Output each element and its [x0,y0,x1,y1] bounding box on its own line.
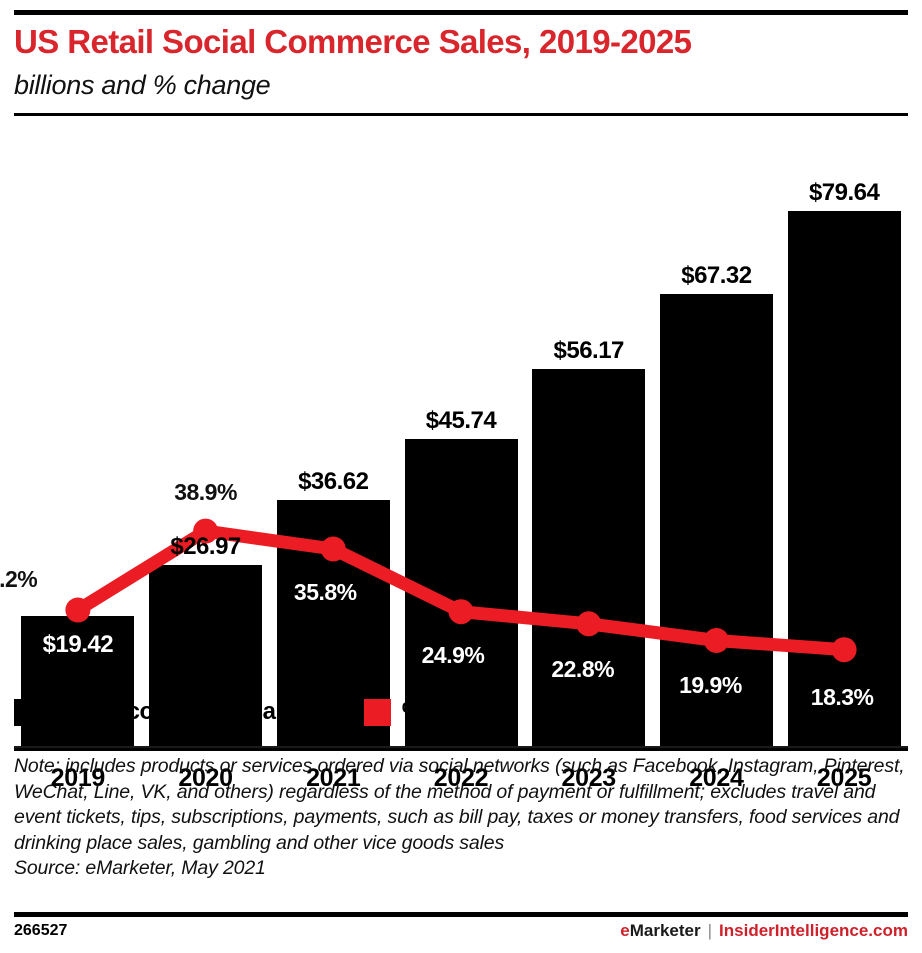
brand-e: e [620,921,629,940]
chart-legend: Social commerce sales % change [14,696,567,728]
percent-change-label-2021: 35.8% [240,579,410,606]
brand-site: InsiderIntelligence.com [719,921,908,940]
chart-notes: Note: includes products or services orde… [14,754,910,882]
source-text: Source: eMarketer, May 2021 [14,856,910,882]
note-text: Note: includes products or services orde… [14,755,904,854]
bar-value-label-2025: $79.64 [754,179,922,207]
percent-change-label-2025: 18.3% [757,684,922,711]
footer-rule [14,912,908,917]
page-title: US Retail Social Commerce Sales, 2019-20… [14,22,904,62]
bar-2025 [788,211,901,746]
bar-value-label-2023: $56.17 [499,337,679,365]
footer-brand: eMarketer|InsiderIntelligence.com [620,921,908,941]
bar-value-label-2020: $26.97 [116,533,296,561]
legend-swatch-red-icon [364,699,391,726]
bar-value-label-2024: $67.32 [626,262,806,290]
bar-value-label-2022: $45.74 [371,407,551,435]
legend-divider [14,748,908,751]
top-rule [14,10,908,15]
brand-separator: | [708,921,712,940]
legend-item-sales: Social commerce sales [14,698,308,726]
chart-page: US Retail Social Commerce Sales, 2019-20… [0,0,922,953]
percent-change-label-2020: 38.9% [121,479,291,506]
brand-marketer: Marketer [630,921,701,940]
legend-label-pct-change: % change [402,698,511,726]
legend-item-pct-change: % change [364,698,511,726]
legend-swatch-black-icon [14,699,41,726]
legend-label-sales: Social commerce sales [52,698,308,726]
chart-plot-area: $19.42$26.97$36.62$45.74$56.17$67.32$79.… [0,116,922,636]
percent-change-label-2019: 25.2% [0,566,91,593]
page-subtitle: billions and % change [14,68,904,102]
bar-value-label-2019: $19.42 [0,631,168,659]
chart-id: 266527 [14,922,67,940]
